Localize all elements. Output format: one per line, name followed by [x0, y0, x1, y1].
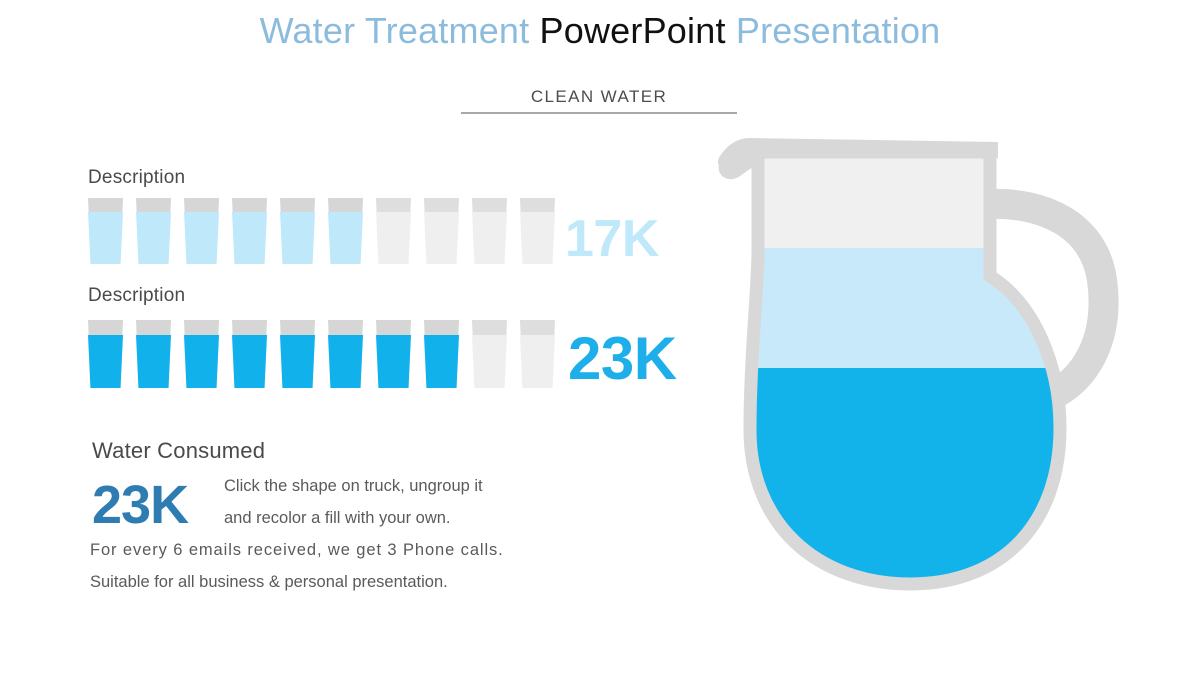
- section-heading-divider: [461, 112, 737, 114]
- glass-row-2: [88, 320, 555, 388]
- water-glass-icon: [88, 198, 123, 264]
- water-glass-icon: [88, 320, 123, 388]
- row-1-label: Description: [88, 167, 185, 189]
- water-glass-empty-icon: [472, 198, 507, 264]
- water-glass-icon: [184, 198, 219, 264]
- row-2-value: 23K: [568, 329, 677, 389]
- page-title: Water Treatment PowerPoint Presentation: [0, 10, 1200, 52]
- glass-row-1: [88, 198, 555, 264]
- water-glass-icon: [280, 198, 315, 264]
- water-glass-empty-icon: [376, 198, 411, 264]
- section-heading-label: CLEAN WATER: [461, 86, 737, 108]
- water-glass-icon: [184, 320, 219, 388]
- body-copy-line-2: and recolor a fill with your own.: [224, 510, 451, 527]
- title-part-2: PowerPoint: [540, 10, 726, 51]
- body-copy-line-4: Suitable for all business & personal pre…: [90, 574, 448, 591]
- water-pitcher-illustration: 30% 60%: [690, 128, 1140, 653]
- water-consumed-value: 23K: [92, 478, 188, 532]
- water-glass-icon: [280, 320, 315, 388]
- water-glass-icon: [328, 320, 363, 388]
- title-part-1: Water Treatment: [260, 10, 530, 51]
- section-heading: CLEAN WATER: [461, 86, 737, 114]
- water-consumed-heading: Water Consumed: [92, 438, 265, 464]
- body-copy-line-1: Click the shape on truck, ungroup it: [224, 478, 483, 495]
- row-2-label: Description: [88, 285, 185, 307]
- water-glass-icon: [232, 198, 267, 264]
- water-glass-empty-icon: [424, 198, 459, 264]
- water-glass-icon: [232, 320, 267, 388]
- pitcher-bottom-segment: [690, 368, 1140, 648]
- row-1-value: 17K: [565, 213, 659, 265]
- water-glass-empty-icon: [520, 198, 555, 264]
- water-glass-empty-icon: [520, 320, 555, 388]
- body-copy-line-3: For every 6 emails received, we get 3 Ph…: [90, 542, 504, 559]
- water-glass-icon: [136, 198, 171, 264]
- water-glass-icon: [328, 198, 363, 264]
- pitcher-svg: [690, 128, 1140, 648]
- title-part-3: Presentation: [736, 10, 941, 51]
- water-glass-icon: [136, 320, 171, 388]
- water-glass-icon: [424, 320, 459, 388]
- water-glass-icon: [376, 320, 411, 388]
- water-glass-empty-icon: [472, 320, 507, 388]
